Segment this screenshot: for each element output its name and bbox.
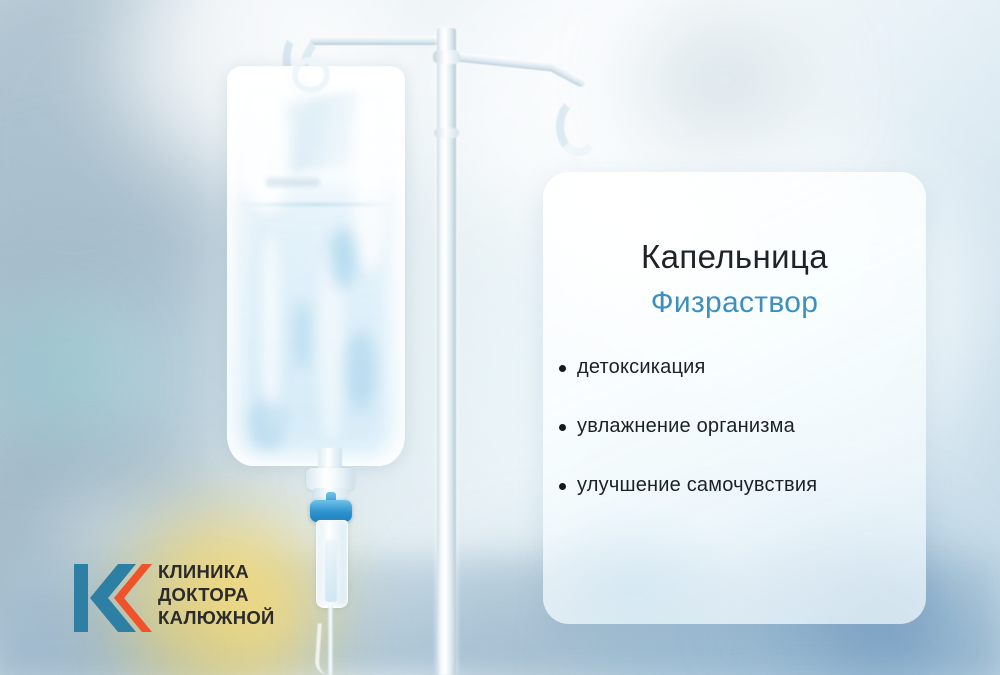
iv-pole-collar-lower — [434, 128, 459, 138]
iv-spike-collar — [306, 468, 354, 490]
list-item: улучшение самочувствия — [551, 474, 916, 497]
logo-mark-kk-icon — [74, 562, 152, 634]
background-blur-grey-right — [640, 20, 810, 140]
info-card: Капельница Физраствор детоксикация увлаж… — [543, 172, 926, 624]
benefit-list: детоксикация увлажнение организма улучше… — [551, 356, 916, 497]
drip-chamber-fluid — [325, 540, 337, 602]
logo-line-1: КЛИНИКА — [158, 560, 275, 583]
poster-canvas: Капельница Физраствор детоксикация увлаж… — [0, 0, 1000, 675]
page-subtitle: Физраствор — [543, 286, 926, 320]
iv-bag-highlight-2 — [352, 100, 386, 270]
iv-pole-collar-upper — [433, 50, 460, 64]
iv-bag-fluid-tint-1 — [330, 228, 356, 288]
drip-chamber-blue-cap — [310, 500, 352, 522]
iv-tube-curve — [314, 623, 340, 675]
logo-line-3: КАЛЮЖНОЙ — [158, 606, 275, 629]
clinic-logo[interactable]: КЛИНИКА ДОКТОРА КАЛЮЖНОЙ — [74, 556, 314, 640]
iv-bag-hanger-ring-icon — [292, 57, 330, 93]
iv-bag-fluid-tint-3 — [346, 330, 376, 410]
logo-line-2: ДОКТОРА — [158, 583, 275, 606]
iv-bag-fluid-level-line — [234, 203, 396, 206]
info-card-bottom-tint — [543, 504, 743, 624]
iv-bag-fluid-tint-2 — [295, 300, 309, 370]
list-item: увлажнение организма — [551, 415, 916, 438]
page-title: Капельница — [543, 238, 926, 276]
iv-pole — [437, 28, 456, 675]
iv-bag-highlight-1 — [244, 92, 290, 212]
logo-wordmark: КЛИНИКА ДОКТОРА КАЛЮЖНОЙ — [158, 560, 275, 629]
list-item: детоксикация — [551, 356, 916, 379]
iv-bag-fluid-tint-4 — [250, 400, 284, 450]
iv-bag-printed-label — [266, 178, 320, 187]
